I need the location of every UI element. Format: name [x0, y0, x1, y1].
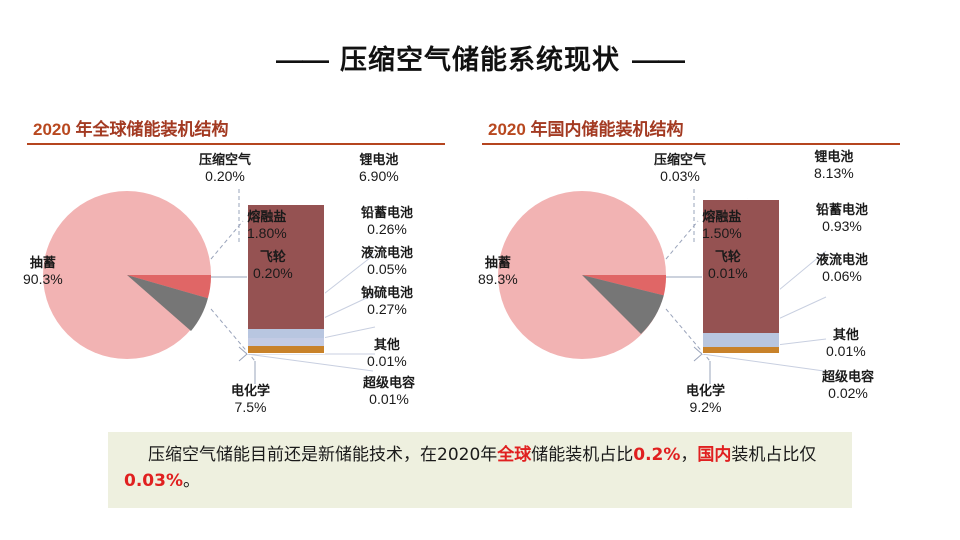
- pie-wedges-group: [498, 191, 666, 359]
- label-lithium-name: 锂电池: [359, 154, 399, 169]
- label-caes-name: 压缩空气: [654, 154, 706, 169]
- note-highlight-domestic: 国内: [697, 445, 731, 465]
- label-lithium: 锂电池 8.13%: [814, 151, 854, 181]
- pie-chart-domestic: 抽蓄 89.3% 压缩空气 0.03% 熔融盐 1.50% 飞轮 0.01% 电…: [470, 149, 920, 425]
- label-pumped-name: 抽蓄: [478, 257, 518, 272]
- label-flywheel-value: 0.01%: [708, 266, 748, 282]
- panel-heading-year: 2020: [33, 120, 71, 139]
- label-caes: 压缩空气 0.03%: [654, 154, 706, 184]
- label-lead-name: 铅蓄电池: [816, 204, 868, 219]
- label-nas-value: 0.27%: [361, 302, 413, 318]
- label-flow-name: 液流电池: [816, 254, 868, 269]
- bar-segment-other: [248, 346, 324, 353]
- label-pumped-name: 抽蓄: [23, 257, 63, 272]
- label-other-value: 0.01%: [367, 354, 407, 370]
- note-part2: 储能装机占比: [531, 445, 633, 465]
- page-title: ——压缩空气储能系统现状——: [0, 38, 960, 77]
- label-pumped-value: 90.3%: [23, 272, 63, 288]
- note-part5: 。: [183, 471, 200, 491]
- panel-divider: [482, 143, 900, 145]
- panel-heading-global: 2020 年全球储能装机结构: [33, 115, 229, 140]
- label-electrochem-value: 9.2%: [686, 400, 725, 416]
- note-part4: 装机占比仅: [731, 445, 816, 465]
- note-part1: 压缩空气储能目前还是新储能技术，在2020年: [148, 445, 497, 465]
- label-electrochem: 电化学 7.5%: [231, 385, 270, 415]
- title-rule-right: ——: [632, 45, 684, 75]
- label-lead-name: 铅蓄电池: [361, 207, 413, 222]
- label-electrochem-name: 电化学: [231, 385, 270, 400]
- label-lead-value: 0.26%: [361, 222, 413, 238]
- pie-chart-global: 抽蓄 90.3% 压缩空气 0.20% 熔融盐 1.80% 飞轮 0.20% 电…: [15, 149, 465, 425]
- label-other-name: 其他: [367, 339, 407, 354]
- label-pumped-value: 89.3%: [478, 272, 518, 288]
- title-rule-left: ——: [276, 45, 328, 75]
- label-lithium-value: 6.90%: [359, 169, 399, 185]
- pie-slice-pumped: [498, 191, 666, 359]
- label-molten-name: 熔融盐: [247, 211, 287, 226]
- label-electrochem-name: 电化学: [686, 385, 725, 400]
- label-flow: 液流电池 0.05%: [361, 247, 413, 277]
- label-flow-name: 液流电池: [361, 247, 413, 262]
- label-other-value: 0.01%: [826, 344, 866, 360]
- label-molten: 熔融盐 1.80%: [247, 211, 287, 241]
- label-lead: 铅蓄电池 0.93%: [816, 204, 868, 234]
- label-nas: 钠硫电池 0.27%: [361, 287, 413, 317]
- label-lithium-value: 8.13%: [814, 166, 854, 182]
- chart-panel-global: 2020 年全球储能装机结构: [15, 105, 465, 425]
- pie-slice-pumped: [43, 191, 211, 359]
- label-caes-value: 0.20%: [199, 169, 251, 185]
- label-caes: 压缩空气 0.20%: [199, 154, 251, 184]
- label-supercap-name: 超级电容: [363, 377, 415, 392]
- label-other: 其他 0.01%: [367, 339, 407, 369]
- label-lead: 铅蓄电池 0.26%: [361, 207, 413, 237]
- label-caes-name: 压缩空气: [199, 154, 251, 169]
- label-other-name: 其他: [826, 329, 866, 344]
- label-supercap: 超级电容 0.01%: [363, 377, 415, 407]
- label-flow-value: 0.06%: [816, 269, 868, 285]
- bar-segment-lead: [703, 333, 779, 347]
- label-lead-value: 0.93%: [816, 219, 868, 235]
- label-pumped: 抽蓄 89.3%: [478, 257, 518, 287]
- summary-note: 压缩空气储能目前还是新储能技术，在2020年全球储能装机占比0.2%，国内装机占…: [108, 432, 852, 508]
- label-lithium: 锂电池 6.90%: [359, 154, 399, 184]
- note-part3: ，: [680, 445, 697, 465]
- label-lithium-name: 锂电池: [814, 151, 854, 166]
- label-flywheel-name: 飞轮: [253, 251, 293, 266]
- label-caes-value: 0.03%: [654, 169, 706, 185]
- label-pumped: 抽蓄 90.3%: [23, 257, 63, 287]
- bar-segment-other: [703, 347, 779, 353]
- panel-heading-year: 2020: [488, 120, 526, 139]
- bar-segment-lead: [248, 329, 324, 338]
- note-highlight-global: 全球: [497, 445, 531, 465]
- panel-heading-text: 年国内储能装机结构: [526, 120, 684, 139]
- label-supercap-value: 0.02%: [822, 386, 874, 402]
- label-electrochem: 电化学 9.2%: [686, 385, 725, 415]
- chart-panel-domestic: 2020 年国内储能装机结构: [470, 105, 920, 425]
- pie-wedges-group: [43, 191, 211, 359]
- label-nas-name: 钠硫电池: [361, 287, 413, 302]
- label-flow-value: 0.05%: [361, 262, 413, 278]
- label-supercap-value: 0.01%: [363, 392, 415, 408]
- label-molten-name: 熔融盐: [702, 211, 742, 226]
- label-flywheel: 飞轮 0.20%: [253, 251, 293, 281]
- title-text: 压缩空气储能系统现状: [340, 45, 620, 75]
- panel-heading-domestic: 2020 年国内储能装机结构: [488, 115, 684, 140]
- label-molten: 熔融盐 1.50%: [702, 211, 742, 241]
- label-flywheel-value: 0.20%: [253, 266, 293, 282]
- label-molten-value: 1.80%: [247, 226, 287, 242]
- panel-divider: [27, 143, 445, 145]
- label-flywheel: 飞轮 0.01%: [708, 251, 748, 281]
- label-flywheel-name: 飞轮: [708, 251, 748, 266]
- label-supercap-name: 超级电容: [822, 371, 874, 386]
- label-molten-value: 1.50%: [702, 226, 742, 242]
- panel-heading-text: 年全球储能装机结构: [71, 120, 229, 139]
- label-other: 其他 0.01%: [826, 329, 866, 359]
- label-supercap: 超级电容 0.02%: [822, 371, 874, 401]
- label-flow: 液流电池 0.06%: [816, 254, 868, 284]
- bar-segment-flow: [248, 338, 324, 345]
- note-highlight-domestic-share: 0.03%: [124, 471, 183, 491]
- label-electrochem-value: 7.5%: [231, 400, 270, 416]
- note-highlight-global-share: 0.2%: [633, 445, 680, 465]
